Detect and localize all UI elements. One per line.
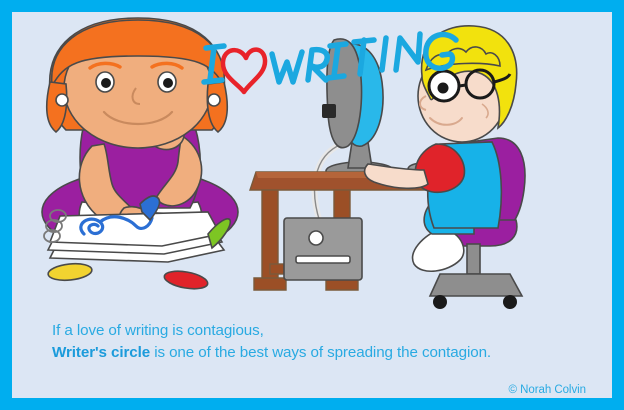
caption-line-2-rest: is one of the best ways of spreading the… <box>150 344 491 361</box>
earring-left <box>56 94 68 106</box>
crayon-red <box>163 268 209 291</box>
illustration-canvas: .ol { stroke:#4a4a4a; stroke-width:1.6; … <box>12 12 612 398</box>
chair-wheel-right <box>503 295 517 309</box>
power-button <box>309 231 323 245</box>
caption-bold-term: Writer's circle <box>52 344 150 361</box>
crayon-yellow <box>47 262 92 283</box>
caption-line-1: If a love of writing is contagious, <box>52 320 592 342</box>
caption-block: If a love of writing is contagious, Writ… <box>52 320 592 364</box>
chair-base <box>430 274 522 296</box>
copyright-notice: © Norah Colvin <box>509 384 586 396</box>
heart-icon <box>223 50 265 92</box>
chair-wheel-left <box>433 295 447 309</box>
caption-line-2: Writer's circle is one of the best ways … <box>52 342 592 364</box>
title-i-love-writing <box>198 28 468 96</box>
illustration-frame: .ol { stroke:#4a4a4a; stroke-width:1.6; … <box>0 0 624 410</box>
disk-slot <box>296 256 350 263</box>
title-word-writing <box>272 34 456 82</box>
computer-tower <box>284 218 362 280</box>
